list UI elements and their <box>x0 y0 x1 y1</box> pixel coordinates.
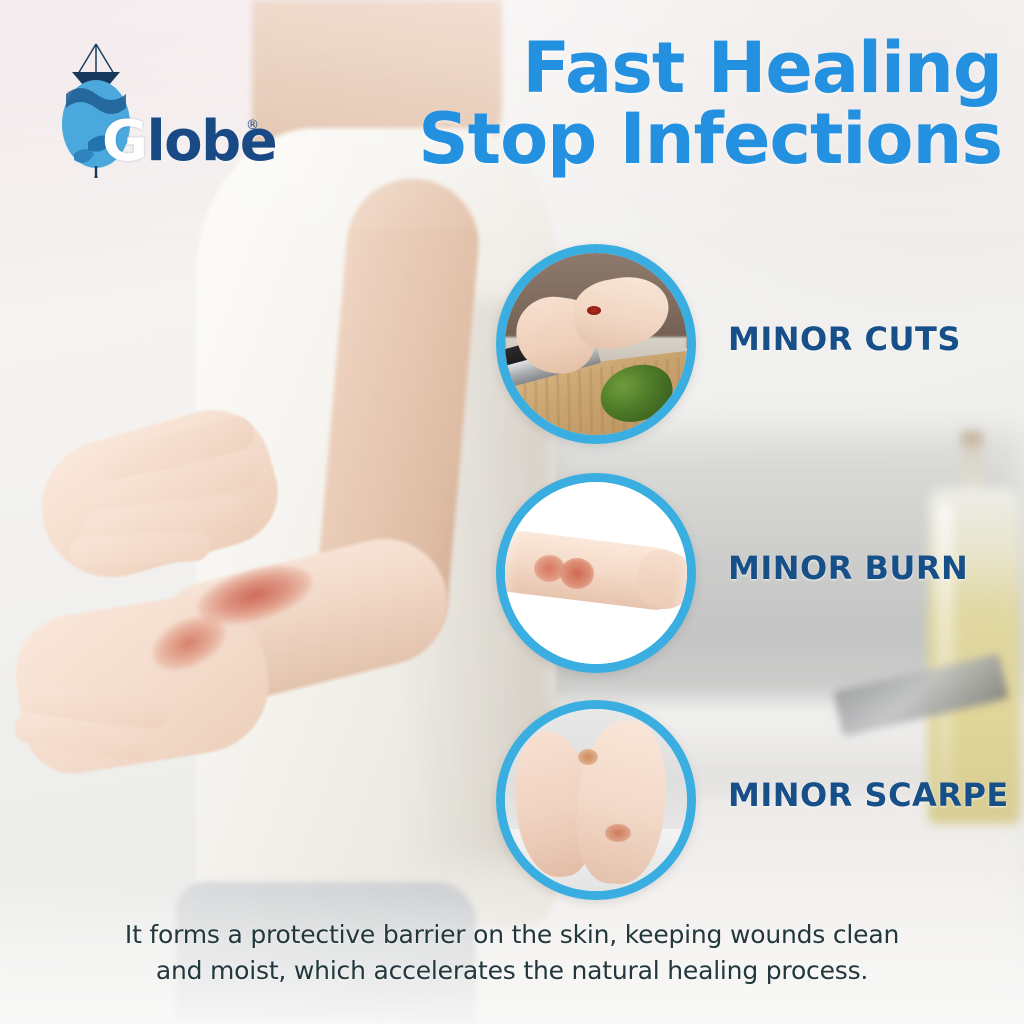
registered-trademark-symbol: ® <box>246 118 259 133</box>
minor-scarpe-photo-circle[interactable] <box>496 700 696 900</box>
scarpe-abrasion <box>605 824 630 842</box>
subject-finger <box>69 530 210 567</box>
feature-label-minor-burn: MINOR BURN <box>728 549 968 587</box>
product-description: It forms a protective barrier on the ski… <box>0 917 1024 988</box>
minor-cuts-photo <box>505 253 687 435</box>
minor-cuts-photo-circle[interactable] <box>496 244 696 444</box>
feature-minor-scarpe[interactable]: MINOR SCARPE <box>496 700 1016 900</box>
headline-line-1: Fast Healing <box>522 27 1002 109</box>
feature-minor-burn[interactable]: MINOR BURN <box>496 473 1016 673</box>
caption-line-1: It forms a protective barrier on the ski… <box>80 917 944 953</box>
caption-line-2: and moist, which accelerates the natural… <box>80 953 944 989</box>
cuts-finger-wound <box>587 306 602 315</box>
product-banner: Globe ® Fast Healing Stop Infections MIN… <box>0 0 1024 1024</box>
page-title: Fast Healing Stop Infections <box>302 34 1002 175</box>
feature-label-minor-cuts: MINOR CUTS <box>728 320 961 358</box>
brand-logo[interactable]: Globe ® <box>58 38 238 178</box>
feature-minor-cuts[interactable]: MINOR CUTS <box>496 244 1016 444</box>
minor-burn-photo-circle[interactable] <box>496 473 696 673</box>
headline-line-2: Stop Infections <box>302 105 1002 174</box>
burn-white-vignette <box>496 473 696 673</box>
minor-burn-photo <box>505 482 687 664</box>
feature-label-minor-scarpe: MINOR SCARPE <box>728 776 1009 814</box>
minor-scarpe-photo <box>505 709 687 891</box>
brand-initial: G <box>102 109 146 174</box>
